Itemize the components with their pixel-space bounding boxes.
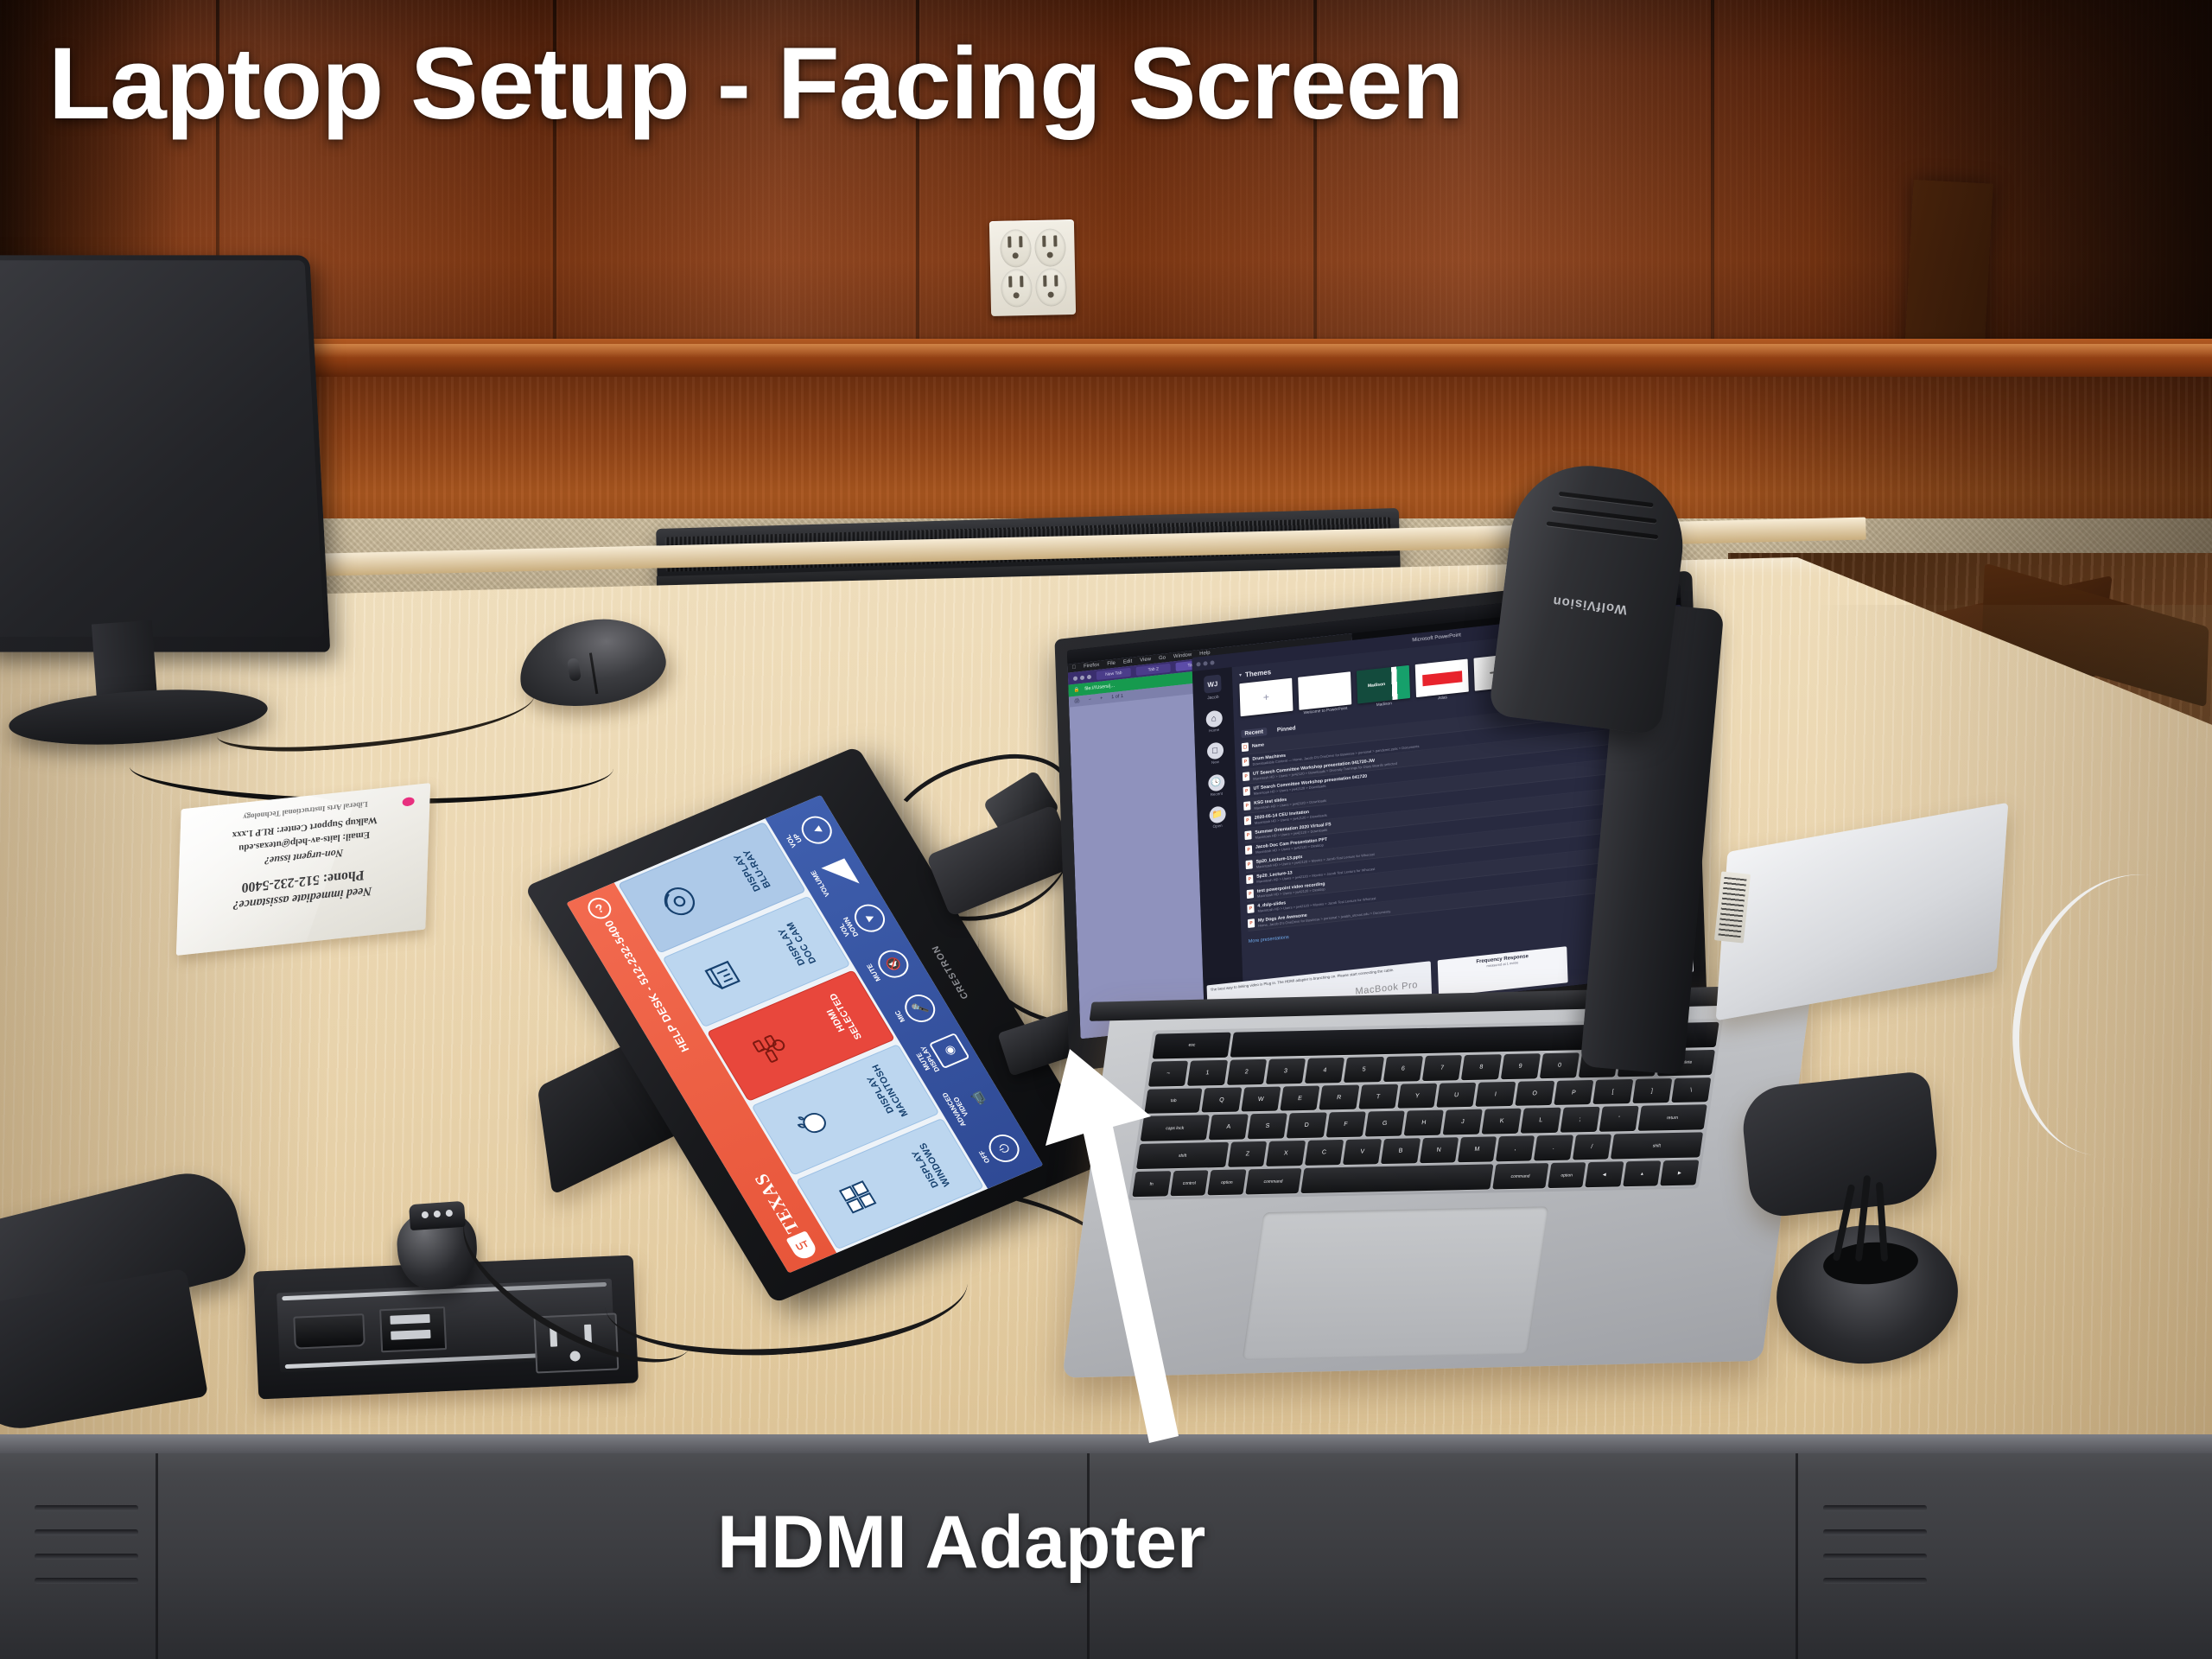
apple-icon <box>785 1099 842 1148</box>
hdmi-adapter-callout: HDMI Adapter <box>717 1505 1205 1580</box>
powerpoint-file-icon: P <box>1245 845 1252 855</box>
tab-recent[interactable]: Recent <box>1241 728 1267 738</box>
wolfvision-brand: WolfVision <box>1524 590 1655 620</box>
key-i[interactable]: I <box>1476 1081 1516 1107</box>
key-return[interactable]: return <box>1638 1105 1707 1132</box>
chevron-down-icon[interactable]: ▾ <box>1239 672 1242 678</box>
key-1[interactable]: 1 <box>1187 1060 1227 1086</box>
help-icon[interactable]: ? <box>584 894 616 922</box>
rail-label-recent: Recent <box>1211 791 1223 798</box>
file-icon: ▢ <box>1242 742 1249 752</box>
rail-item-new[interactable]: □ New <box>1206 742 1224 766</box>
key-semicolon[interactable]: ; <box>1560 1107 1599 1133</box>
key-2[interactable]: 2 <box>1226 1059 1266 1085</box>
key-g[interactable]: G <box>1364 1111 1404 1137</box>
powerpoint-file-icon: P <box>1246 874 1253 884</box>
apple-menu-icon[interactable]:  <box>1072 665 1077 671</box>
powerpoint-file-icon: P <box>1244 816 1251 825</box>
more-presentations-link[interactable]: More presentations <box>1249 935 1289 944</box>
rail-item-home[interactable]: ⌂ Home <box>1205 710 1223 734</box>
source-label-macintosh: DISPLAY MACINTOSH <box>861 1063 911 1122</box>
theme-caption-blank: Blank Presentation <box>1243 715 1281 716</box>
rail-item-open[interactable]: 📁 Open <box>1209 805 1226 829</box>
tab-pinned[interactable]: Pinned <box>1274 724 1300 734</box>
theme-welcome[interactable]: Welcome to PowerPoint <box>1298 671 1351 716</box>
side-button-mute[interactable]: 🔇 MUTE <box>863 946 913 986</box>
ut-shield-icon: UT <box>785 1230 819 1262</box>
rail-label-open: Open <box>1213 823 1223 829</box>
key-m[interactable]: M <box>1458 1137 1497 1163</box>
key-quote[interactable]: ' <box>1599 1106 1638 1132</box>
key-tab[interactable]: tab <box>1144 1088 1203 1114</box>
source-label-doccam: DISPLAY DOC CAM <box>775 920 819 969</box>
themes-title: Themes <box>1245 668 1271 678</box>
key-d[interactable]: D <box>1287 1113 1326 1139</box>
powerpoint-file-icon: P <box>1244 830 1251 840</box>
macbook-trackpad[interactable] <box>1243 1206 1549 1359</box>
plus-icon: + <box>1263 691 1269 704</box>
side-button-vol-up[interactable]: ▲ VOL UP <box>780 811 837 855</box>
key-option-left[interactable]: option <box>1207 1170 1246 1196</box>
browser-url[interactable]: file:///Users/j... <box>1084 683 1115 692</box>
menu-go[interactable]: Go <box>1159 655 1166 661</box>
key-t[interactable]: T <box>1358 1084 1398 1109</box>
powerpoint-file-icon: P <box>1243 786 1250 796</box>
key-caps-lock[interactable]: caps lock <box>1141 1116 1210 1142</box>
key-5[interactable]: 5 <box>1344 1057 1383 1083</box>
key-arrow-updown[interactable]: ▲ <box>1623 1160 1662 1186</box>
windows-icon <box>829 1173 886 1222</box>
zoom-out-icon[interactable]: − <box>1089 697 1091 702</box>
side-button-vol-down[interactable]: ▼ VOL DOWN <box>834 900 891 944</box>
theme-thumb-text-madison: Madison <box>1368 682 1385 689</box>
clock-icon: 🕓 <box>1208 773 1225 791</box>
key-arrow-left[interactable]: ◀ <box>1585 1161 1624 1187</box>
menu-view[interactable]: View <box>1140 657 1151 663</box>
key-backtick[interactable]: ~ <box>1148 1061 1188 1087</box>
document-camera-base <box>1739 1071 1942 1219</box>
ac-power-outlet[interactable] <box>534 1313 620 1373</box>
key-control[interactable]: control <box>1170 1170 1209 1196</box>
menu-window[interactable]: Window <box>1173 652 1192 659</box>
document-camera-icon <box>696 950 753 1000</box>
folder-icon: 📁 <box>1209 805 1226 823</box>
avatar[interactable]: WJ <box>1204 674 1222 693</box>
key-l[interactable]: L <box>1521 1108 1560 1134</box>
key-e[interactable]: E <box>1280 1085 1319 1111</box>
lock-icon: 🔒 <box>1073 687 1079 693</box>
rail-item-recent[interactable]: 🕓 Recent <box>1208 773 1225 797</box>
powerpoint-file-icon: P <box>1247 904 1254 913</box>
source-label-hdmi: HDMI SELECTED <box>817 992 864 1046</box>
menu-edit[interactable]: Edit <box>1123 659 1133 665</box>
confidence-monitor <box>0 255 330 652</box>
home-icon: ⌂ <box>1205 710 1223 728</box>
key-bracket-left[interactable]: [ <box>1592 1079 1632 1105</box>
zoom-in-icon[interactable]: + <box>1100 696 1103 701</box>
window-controls[interactable] <box>1073 674 1091 680</box>
print-icon[interactable]: 🖨 <box>1074 698 1080 704</box>
powerpoint-file-icon: P <box>1246 860 1253 869</box>
key-4[interactable]: 4 <box>1305 1058 1344 1084</box>
key-fn[interactable]: fn <box>1132 1171 1171 1197</box>
key-arrow-right[interactable]: ▶ <box>1661 1160 1700 1186</box>
side-button-off[interactable]: ⏻ OFF <box>975 1130 1025 1170</box>
menu-file[interactable]: File <box>1107 661 1116 667</box>
theme-madison[interactable]: Madison Madison <box>1357 665 1410 710</box>
usb-port-group[interactable] <box>379 1306 447 1352</box>
key-a[interactable]: A <box>1209 1115 1249 1141</box>
key-r[interactable]: R <box>1319 1084 1358 1110</box>
powerpoint-file-icon: P <box>1243 772 1249 781</box>
avatar-name: Jacob <box>1207 695 1219 701</box>
powerpoint-file-icon: P <box>1243 801 1250 810</box>
key-y[interactable]: Y <box>1397 1083 1437 1109</box>
key-3[interactable]: 3 <box>1266 1058 1306 1084</box>
side-button-mute-display[interactable]: ◉ MUTE DISPLAY <box>913 1033 970 1076</box>
key-shift-right[interactable]: shift <box>1611 1133 1703 1160</box>
key-w[interactable]: W <box>1241 1086 1281 1112</box>
key-n[interactable]: N <box>1419 1138 1458 1164</box>
disc-icon <box>652 877 708 926</box>
rail-label-new: New <box>1211 760 1219 765</box>
key-f[interactable]: F <box>1325 1112 1365 1138</box>
source-label-windows: DISPLAY WINDOWS <box>907 1141 952 1192</box>
key-6[interactable]: 6 <box>1383 1056 1423 1082</box>
key-8[interactable]: 8 <box>1461 1054 1501 1080</box>
key-space[interactable] <box>1300 1165 1493 1194</box>
key-j[interactable]: J <box>1443 1109 1483 1135</box>
powerpoint-file-icon: P <box>1242 757 1249 766</box>
powerpoint-file-icon: P <box>1247 889 1254 899</box>
side-button-mic[interactable]: 🎤 MIC <box>890 990 940 1030</box>
key-p[interactable]: P <box>1554 1080 1593 1106</box>
key-0[interactable]: 0 <box>1540 1052 1580 1078</box>
rail-label-home: Home <box>1209 728 1219 733</box>
key-q[interactable]: Q <box>1202 1087 1242 1113</box>
key-u[interactable]: U <box>1436 1082 1476 1108</box>
key-b[interactable]: B <box>1381 1138 1420 1164</box>
hdmi-port[interactable] <box>293 1313 365 1350</box>
key-c[interactable]: C <box>1305 1140 1344 1166</box>
key-h[interactable]: H <box>1403 1110 1443 1136</box>
key-esc[interactable]: esc <box>1153 1033 1231 1059</box>
powerpoint-file-icon: P <box>1248 918 1255 928</box>
key-7[interactable]: 7 <box>1422 1055 1462 1081</box>
page-indicator: 1 of 1 <box>1111 694 1123 700</box>
help-desk-paper-sign: Need immediate assistance? Phone: 512-23… <box>176 783 430 956</box>
key-9[interactable]: 9 <box>1500 1053 1540 1079</box>
theme-atlas[interactable]: Atlas <box>1415 659 1469 704</box>
theme-blank[interactable]: + Blank Presentation <box>1239 678 1293 723</box>
screenshot-root: Need immediate assistance? Phone: 512-23… <box>0 0 2212 1659</box>
key-o[interactable]: O <box>1515 1081 1554 1107</box>
key-command-right[interactable]: command <box>1492 1163 1548 1189</box>
theme-name-atlas: Atlas <box>1438 696 1447 701</box>
page-title: Laptop Setup - Facing Screen <box>48 33 1463 135</box>
key-backslash[interactable]: \ <box>1671 1077 1711 1103</box>
key-x[interactable]: X <box>1266 1141 1305 1166</box>
wall-outlet <box>989 219 1076 316</box>
key-z[interactable]: Z <box>1228 1141 1267 1167</box>
key-s[interactable]: S <box>1248 1114 1287 1140</box>
key-period[interactable]: . <box>1534 1135 1573 1161</box>
side-button-volume[interactable]: VOLUME <box>810 857 861 898</box>
key-k[interactable]: K <box>1482 1109 1522 1135</box>
hdmi-cable-icon <box>741 1025 797 1074</box>
key-comma[interactable]: , <box>1496 1136 1535 1162</box>
key-option-right[interactable]: option <box>1548 1162 1586 1188</box>
theme-name-madison: Madison <box>1376 702 1392 708</box>
source-label-bluray: DISPLAY BLU-RAY <box>731 848 773 893</box>
menu-firefox[interactable]: Firefox <box>1084 663 1099 670</box>
key-v[interactable]: V <box>1343 1139 1382 1165</box>
key-command-left[interactable]: command <box>1245 1168 1301 1194</box>
side-button-advanced-video[interactable]: 📹 ADVANCED VIDEO <box>941 1077 1000 1128</box>
key-shift-left[interactable]: shift <box>1136 1142 1229 1169</box>
key-bracket-right[interactable]: ] <box>1632 1078 1672 1104</box>
key-slash[interactable]: / <box>1572 1135 1611 1160</box>
new-document-icon: □ <box>1206 742 1224 760</box>
